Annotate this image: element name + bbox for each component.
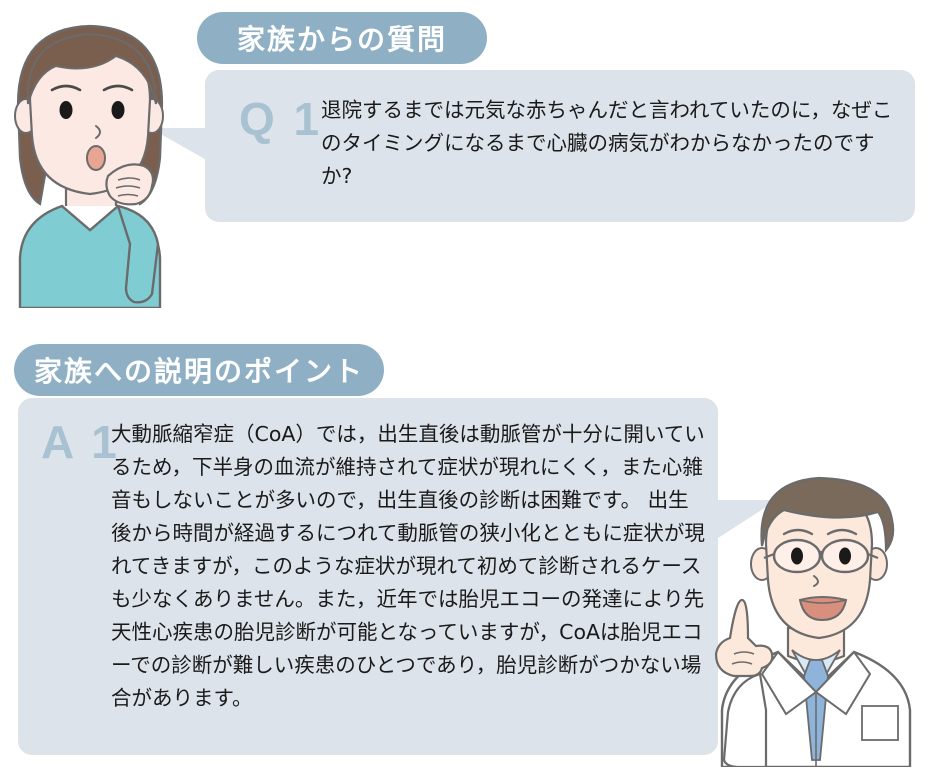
question-heading-badge: 家族からの質問 xyxy=(197,12,487,64)
answer-number-marker: A 1 xyxy=(41,419,120,465)
answer-heading-badge: 家族への説明のポイント xyxy=(14,344,384,396)
doctor-illustration xyxy=(700,460,931,772)
worried-mother-illustration xyxy=(0,8,180,313)
question-text: 退院するまでは元気な赤ちゃんだと言われていたのに，なぜこのタイミングになるまで心… xyxy=(321,94,901,193)
answer-text: 大動脈縮窄症（CoA）では，出生直後は動脈管が十分に開いているため，下半身の血流… xyxy=(111,418,707,715)
question-number-marker: Q 1 xyxy=(239,96,322,142)
